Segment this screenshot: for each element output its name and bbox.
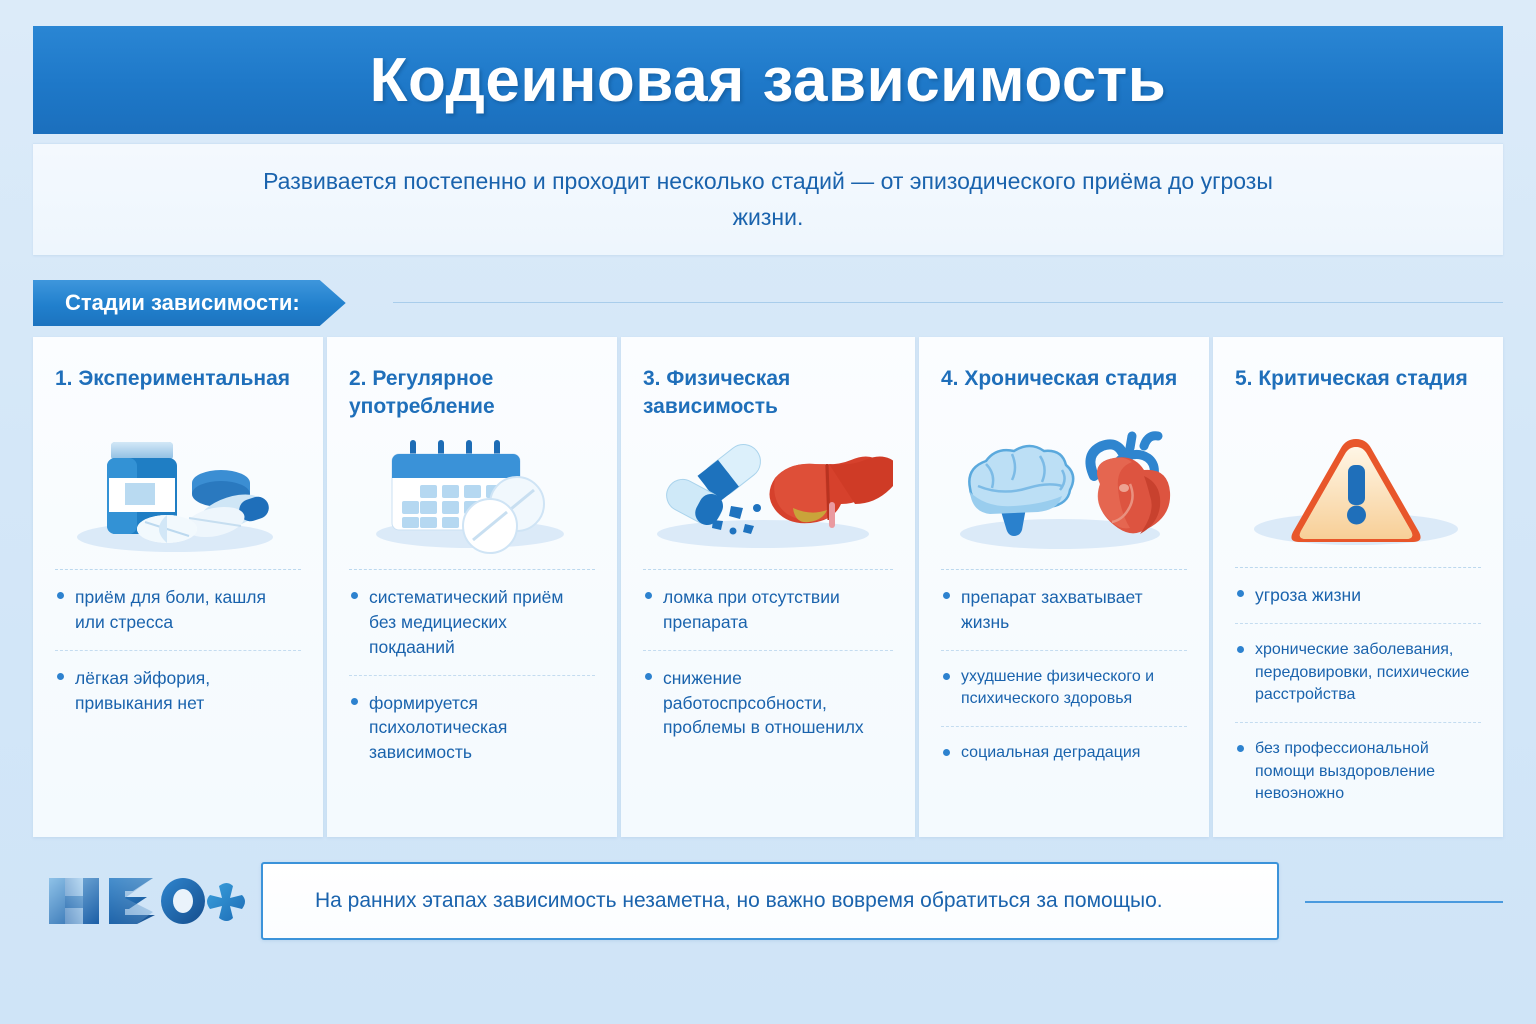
footer-caption-box: На ранних этапах зависимость незаметна, … <box>261 862 1279 940</box>
warning-triangle-icon <box>1235 429 1481 555</box>
subtitle-text: Развивается постепенно и проходит нескол… <box>248 164 1288 235</box>
list-item: хронические заболевания, передовировки, … <box>1235 624 1481 723</box>
list-item: снижение работоспрсобности, проблемы в о… <box>643 651 893 756</box>
footer: На ранних этапах зависимость незаметна, … <box>33 856 1503 946</box>
section-tab-row: Стадии зависимости: <box>33 280 1503 326</box>
stage-cards-row: 1. Экспериментальная <box>33 337 1503 837</box>
calendar-and-tablets-icon <box>349 429 595 557</box>
stage-bullet-list: угроза жизни хронические заболевания, пе… <box>1235 568 1481 821</box>
subtitle-panel: Развивается постепенно и проходит нескол… <box>33 143 1503 255</box>
list-item: лёгкая эйфория, привыкания нет <box>55 651 301 731</box>
title-bar: Кодеиновая зависимость <box>33 26 1503 134</box>
list-item: ухудшение физического и психического здо… <box>941 651 1187 727</box>
list-item: без профессиональной помощи выздоровлени… <box>1235 723 1481 821</box>
list-item: угроза жизни <box>1235 568 1481 624</box>
stage-card-1[interactable]: 1. Экспериментальная <box>33 337 323 837</box>
list-item: социальная деградация <box>941 727 1187 780</box>
list-item: систематический приём без медициеских по… <box>349 570 595 676</box>
stage-card-3[interactable]: 3. Физическая зависимость <box>621 337 915 837</box>
section-tab-stages: Стадии зависимости: <box>33 280 346 326</box>
brain-and-heart-icon <box>941 429 1187 557</box>
stage-bullet-list: приём для боли, кашля или стресса лёгкая… <box>55 570 301 819</box>
stage-card-title: 5. Критическая стадия <box>1235 365 1481 423</box>
stage-card-title: 4. Хроническая стадия <box>941 365 1187 423</box>
list-item: приём для боли, кашля или стресса <box>55 570 301 651</box>
stage-card-title: 2. Регулярное употребление <box>349 365 595 423</box>
page-title: Кодеиновая зависимость <box>370 45 1167 116</box>
section-tab-rule <box>393 302 1503 303</box>
stage-card-title: 3. Физическая зависимость <box>643 365 893 423</box>
list-item: формируется психолотическая зависимость <box>349 676 595 781</box>
stage-bullet-list: систематический приём без медициеских по… <box>349 570 595 819</box>
list-item: ломка при отсутствии препарата <box>643 570 893 651</box>
list-item: препарат захватывает жизнь <box>941 570 1187 651</box>
footer-rule <box>1305 901 1503 903</box>
stage-card-title: 1. Экспериментальная <box>55 365 301 423</box>
broken-capsule-and-liver-icon <box>643 429 893 557</box>
stage-card-2[interactable]: 2. Регулярное употребление <box>327 337 617 837</box>
stage-card-5[interactable]: 5. Критическая стадия угроза жизни <box>1213 337 1503 837</box>
pill-bottle-and-tablets-icon <box>55 429 301 557</box>
stage-card-4[interactable]: 4. Хроническая стадия <box>919 337 1209 837</box>
stage-bullet-list: ломка при отсутствии препарата снижение … <box>643 570 893 819</box>
footer-caption-text: На ранних этапах зависимость незаметна, … <box>315 889 1163 913</box>
neo-plus-logo[interactable] <box>43 870 253 932</box>
section-tab-label: Стадии зависимости: <box>65 290 300 316</box>
stage-bullet-list: препарат захватывает жизнь ухудшение физ… <box>941 570 1187 819</box>
